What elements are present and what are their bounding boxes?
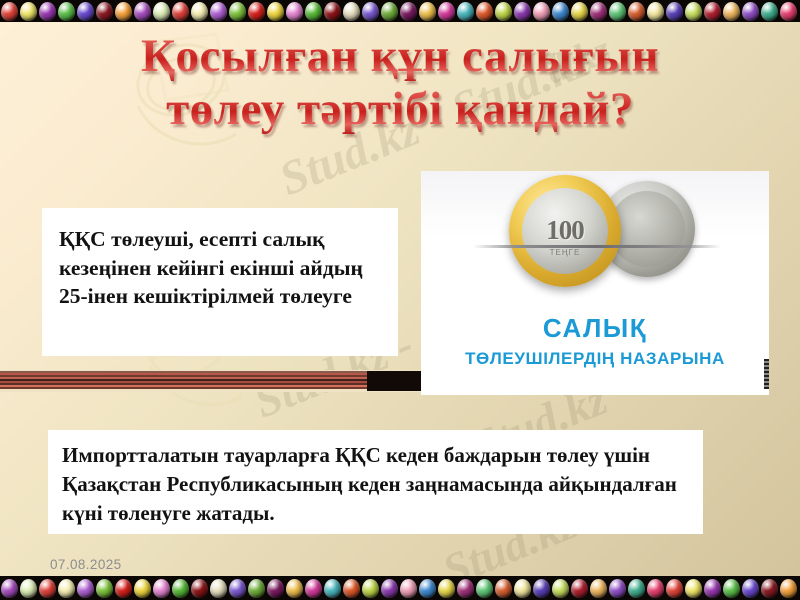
decorative-egg-icon <box>742 2 759 21</box>
image-caption-sub: ТӨЛЕУШІЛЕРДІҢ НАЗАРЫНА <box>421 349 769 369</box>
decorative-egg-icon <box>96 579 113 598</box>
decorative-egg-icon <box>210 579 227 598</box>
bottom-decorative-border <box>0 576 800 600</box>
image-caption-main: САЛЫҚ <box>421 313 769 344</box>
decorative-egg-icon <box>400 579 417 598</box>
decorative-egg-icon <box>780 579 797 598</box>
decorative-egg-icon <box>172 579 189 598</box>
slide-date: 07.08.2025 <box>50 557 122 572</box>
decorative-egg-icon <box>723 2 740 21</box>
decorative-egg-icon <box>780 2 797 21</box>
decorative-egg-icon <box>723 579 740 598</box>
decorative-egg-icon <box>248 579 265 598</box>
decorative-egg-icon <box>685 579 702 598</box>
slide-title: Қосылған құн салығын төлеу тәртібі қанда… <box>0 30 800 135</box>
decorative-egg-icon <box>153 2 170 21</box>
decorative-egg-icon <box>343 579 360 598</box>
decorative-egg-icon <box>77 2 94 21</box>
text-panel-secondary: Импортталатын тауарларға ҚҚС кеден бажда… <box>48 430 703 534</box>
decorative-egg-icon <box>324 2 341 21</box>
decorative-egg-icon <box>39 2 56 21</box>
decorative-egg-icon <box>286 579 303 598</box>
decorative-egg-icon <box>362 2 379 21</box>
decorative-egg-icon <box>742 579 759 598</box>
decorative-egg-icon <box>115 579 132 598</box>
decorative-egg-icon <box>457 579 474 598</box>
decorative-egg-icon <box>362 579 379 598</box>
decorative-egg-icon <box>571 579 588 598</box>
decorative-egg-icon <box>134 2 151 21</box>
decorative-egg-icon <box>761 579 778 598</box>
decorative-egg-icon <box>457 2 474 21</box>
top-decorative-border <box>0 0 800 22</box>
decorative-egg-icon <box>685 2 702 21</box>
coin-shelf-line <box>473 245 721 248</box>
text-panel-primary: ҚҚС төлеуші, есепті салық кезеңінен кейі… <box>42 208 398 356</box>
coin-denomination: 100 <box>546 217 584 244</box>
decorative-egg-icon <box>552 2 569 21</box>
coin-obverse-icon: 100 ТЕҢГЕ <box>509 175 621 287</box>
decorative-egg-icon <box>704 579 721 598</box>
decorative-egg-icon <box>666 579 683 598</box>
decorative-egg-icon <box>153 579 170 598</box>
decorative-egg-icon <box>495 2 512 21</box>
slide: Stud.kz - Stud.kz Stud.kz - Stud.kz Stud… <box>0 0 800 600</box>
decorative-egg-icon <box>305 2 322 21</box>
decorative-egg-icon <box>20 2 37 21</box>
decorative-egg-icon <box>77 579 94 598</box>
decorative-egg-icon <box>1 2 18 21</box>
coin-announcement-image: 100 ТЕҢГЕ САЛЫҚ ТӨЛЕУШІЛЕРДІҢ НАЗАРЫНА <box>421 171 769 395</box>
decorative-egg-icon <box>647 2 664 21</box>
decorative-egg-icon <box>609 579 626 598</box>
decorative-egg-icon <box>1 579 18 598</box>
text-panel-primary-text: ҚҚС төлеуші, есепті салық кезеңінен кейі… <box>42 208 398 311</box>
decorative-egg-icon <box>590 579 607 598</box>
decorative-egg-icon <box>666 2 683 21</box>
decorative-egg-icon <box>609 2 626 21</box>
text-panel-secondary-text: Импортталатын тауарларға ҚҚС кеден бажда… <box>48 430 703 527</box>
decorative-egg-icon <box>248 2 265 21</box>
title-line-2: төлеу тәртібі қандай? <box>0 83 800 136</box>
decorative-egg-icon <box>533 579 550 598</box>
decorative-egg-icon <box>476 579 493 598</box>
decorative-egg-icon <box>400 2 417 21</box>
decorative-egg-icon <box>514 579 531 598</box>
decorative-egg-icon <box>324 579 341 598</box>
decorative-egg-icon <box>381 2 398 21</box>
decorative-egg-icon <box>590 2 607 21</box>
decorative-egg-icon <box>381 579 398 598</box>
decorative-egg-icon <box>39 579 56 598</box>
decorative-egg-icon <box>229 2 246 21</box>
decorative-egg-icon <box>571 2 588 21</box>
decorative-egg-icon <box>476 2 493 21</box>
decorative-egg-icon <box>191 2 208 21</box>
decorative-egg-icon <box>134 579 151 598</box>
decorative-egg-icon <box>229 579 246 598</box>
coin-currency-unit: ТЕҢГЕ <box>550 248 581 257</box>
decorative-egg-icon <box>514 2 531 21</box>
decorative-egg-icon <box>647 579 664 598</box>
title-line-1: Қосылған құн салығын <box>0 30 800 83</box>
image-edge-strip <box>764 359 769 389</box>
striped-divider <box>0 370 421 392</box>
decorative-egg-icon <box>96 2 113 21</box>
decorative-egg-icon <box>20 579 37 598</box>
decorative-egg-icon <box>115 2 132 21</box>
decorative-egg-icon <box>495 579 512 598</box>
decorative-egg-icon <box>58 579 75 598</box>
decorative-egg-icon <box>191 579 208 598</box>
decorative-egg-icon <box>210 2 227 21</box>
decorative-egg-icon <box>628 579 645 598</box>
decorative-egg-icon <box>267 579 284 598</box>
decorative-egg-icon <box>305 579 322 598</box>
decorative-egg-icon <box>552 579 569 598</box>
decorative-egg-icon <box>267 2 284 21</box>
decorative-egg-icon <box>704 2 721 21</box>
decorative-egg-icon <box>761 2 778 21</box>
decorative-egg-icon <box>172 2 189 21</box>
decorative-egg-icon <box>419 2 436 21</box>
decorative-egg-icon <box>286 2 303 21</box>
decorative-egg-icon <box>438 579 455 598</box>
coin-group: 100 ТЕҢГЕ <box>421 175 769 295</box>
decorative-egg-icon <box>628 2 645 21</box>
decorative-egg-icon <box>438 2 455 21</box>
decorative-egg-icon <box>533 2 550 21</box>
decorative-egg-icon <box>343 2 360 21</box>
decorative-egg-icon <box>419 579 436 598</box>
decorative-egg-icon <box>58 2 75 21</box>
